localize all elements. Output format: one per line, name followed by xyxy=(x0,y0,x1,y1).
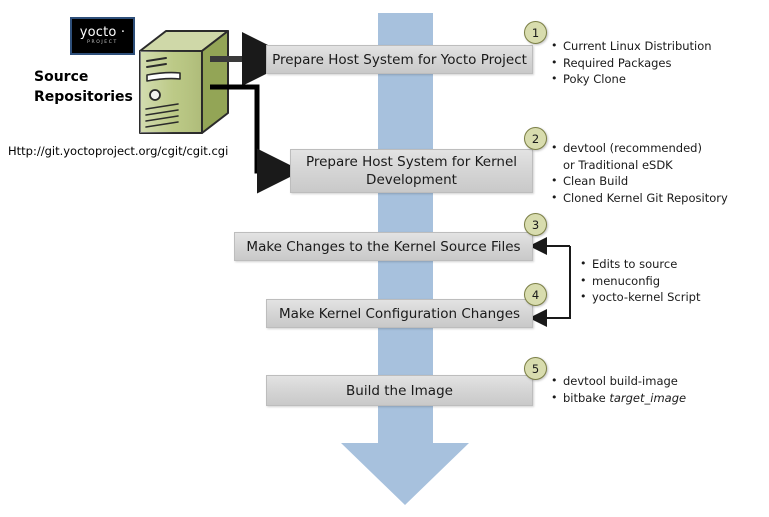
connector-server-to-step2 xyxy=(210,87,262,171)
step-number-5: 5 xyxy=(524,357,547,380)
note-item: devtool build-image xyxy=(551,373,686,390)
step-box-prepare-host-yocto[interactable]: Prepare Host System for Yocto Project xyxy=(266,45,533,74)
note-item: menuconfig xyxy=(580,273,701,290)
note-item: Clean Build xyxy=(551,173,728,190)
diagram-canvas: yocto · PROJECT Source Repositories Http… xyxy=(0,0,769,517)
step-box-build-image[interactable]: Build the Image xyxy=(266,375,533,406)
note-item: devtool (recommended) or Traditional eSD… xyxy=(551,140,713,173)
step-number-4: 4 xyxy=(524,283,547,306)
note-item: Edits to source xyxy=(580,256,701,273)
note-item: yocto-kernel Script xyxy=(580,289,701,306)
step-number-3: 3 xyxy=(524,213,547,236)
note-item: bitbake target_image xyxy=(551,390,686,407)
notes-step-2: devtool (recommended) or Traditional eSD… xyxy=(551,140,728,206)
step-box-make-kernel-source-changes[interactable]: Make Changes to the Kernel Source Files xyxy=(234,232,533,261)
step-box-prepare-host-kernel[interactable]: Prepare Host System for Kernel Developme… xyxy=(290,149,533,193)
notes-steps-3-and-4: Edits to source menuconfig yocto-kernel … xyxy=(580,256,701,306)
note-item: Current Linux Distribution xyxy=(551,38,712,55)
note-item: Poky Clone xyxy=(551,71,712,88)
connector-notes-to-step4 xyxy=(545,246,570,318)
note-command-prefix: bitbake xyxy=(563,391,609,405)
step-number-2: 2 xyxy=(524,127,547,150)
note-item: Cloned Kernel Git Repository xyxy=(551,190,728,207)
notes-step-1: Current Linux Distribution Required Pack… xyxy=(551,38,712,88)
note-command-arg: target_image xyxy=(609,391,686,405)
step-number-1: 1 xyxy=(524,21,547,44)
notes-step-5: devtool build-image bitbake target_image xyxy=(551,373,686,406)
step-box-make-kernel-config-changes[interactable]: Make Kernel Configuration Changes xyxy=(266,299,533,328)
note-item: Required Packages xyxy=(551,55,712,72)
